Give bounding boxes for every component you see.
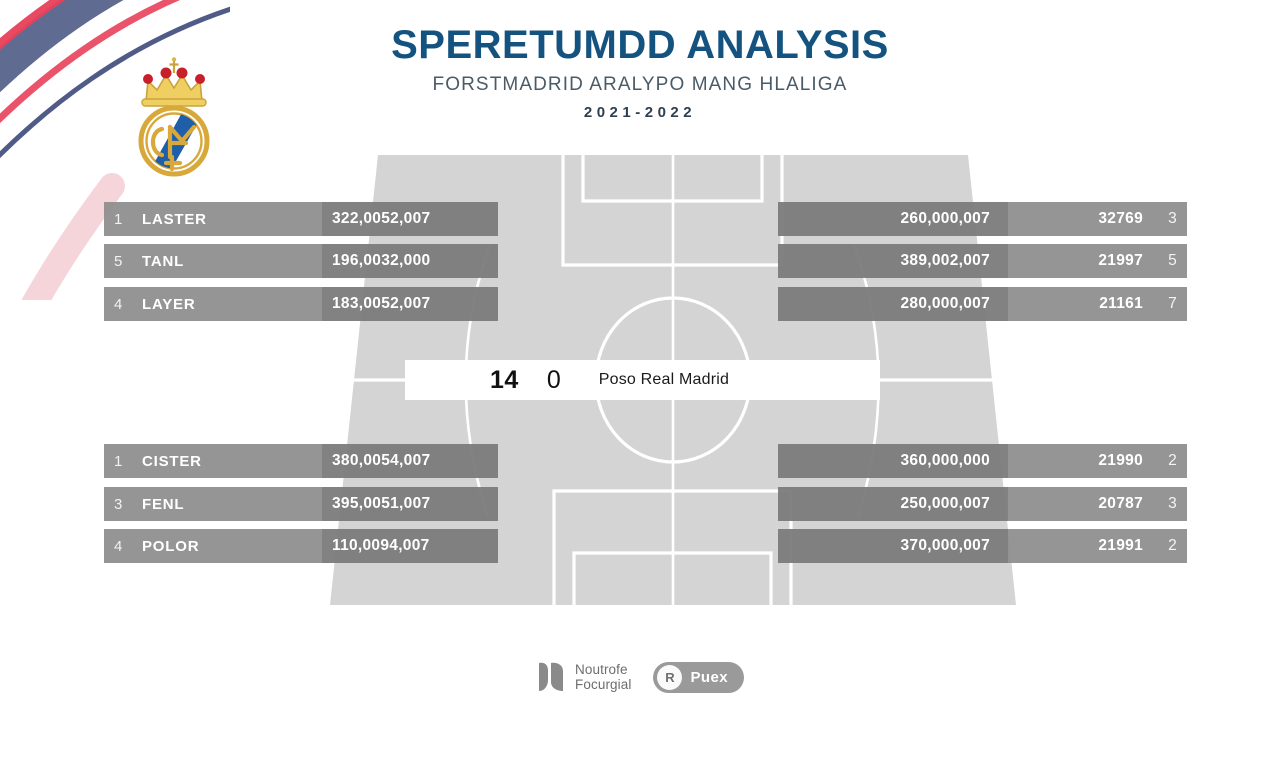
row-stat-segment: 21161 7 [1008,287,1187,321]
row-value-segment: 360,000,000 [778,444,1008,478]
score-team-name: Poso Real Madrid [599,371,729,389]
row-value-segment: 280,000,007 [778,287,1008,321]
row-name: FENL [142,496,184,513]
table-row[interactable]: 1 LASTER 322,0052,007 [104,202,498,236]
row-rank: 2 [1143,452,1177,470]
row-stat-segment: 21990 2 [1008,444,1187,478]
row-stat-segment: 21997 5 [1008,244,1187,278]
score-home: 14 [490,366,519,395]
table-row[interactable]: 1 CISTER 380,0054,007 [104,444,498,478]
row-rank: 1 [114,453,142,470]
row-name: LASTER [142,211,207,228]
infographic-canvas: SPERETUMDD ANALYSIS FORSTMADRID ARALYPO … [0,0,1280,768]
scoreboard: 14 0 Poso Real Madrid [405,360,880,400]
row-rank: 3 [1143,210,1177,228]
row-rank: 1 [114,211,142,228]
sponsor-badge-pill[interactable]: R Puex [653,662,743,693]
row-name: CISTER [142,453,202,470]
row-rank: 3 [1143,495,1177,513]
row-stat-segment: 32769 3 [1008,202,1187,236]
row-number: 21161 [1099,295,1143,313]
row-rank: 3 [114,496,142,513]
row-rank: 5 [114,253,142,270]
table-row[interactable]: 389,002,007 21997 5 [778,244,1187,278]
row-rank: 4 [114,296,142,313]
row-label-segment: 1 LASTER [104,202,322,236]
row-stat-segment: 21991 2 [1008,529,1187,563]
row-value-segment: 380,0054,007 [322,444,498,478]
row-value: 322,0052,007 [322,210,430,228]
header-block: SPERETUMDD ANALYSIS FORSTMADRID ARALYPO … [260,22,1020,121]
row-label-segment: 5 TANL [104,244,322,278]
row-value-segment: 110,0094,007 [322,529,498,563]
row-value: 110,0094,007 [322,537,430,555]
table-row[interactable]: 360,000,000 21990 2 [778,444,1187,478]
brand-line-2: Focurgial [575,677,631,692]
row-value-segment: 260,000,007 [778,202,1008,236]
row-label-segment: 3 FENL [104,487,322,521]
score-away: 0 [547,366,561,395]
row-value: 360,000,000 [901,452,991,470]
page-subtitle: FORSTMADRID ARALYPO MANG HLALIGA [260,74,1020,96]
row-number: 32769 [1098,210,1143,228]
row-rank: 4 [114,538,142,555]
table-row[interactable]: 3 FENL 395,0051,007 [104,487,498,521]
row-rank: 2 [1143,537,1177,555]
table-row[interactable]: 370,000,007 21991 2 [778,529,1187,563]
row-value: 389,002,007 [901,252,991,270]
row-label-segment: 4 POLOR [104,529,322,563]
row-label-segment: 4 LAYER [104,287,322,321]
row-rank: 5 [1143,252,1177,270]
row-name: TANL [142,253,184,270]
row-stat-segment: 20787 3 [1008,487,1187,521]
table-row[interactable]: 280,000,007 21161 7 [778,287,1187,321]
row-value: 380,0054,007 [322,452,430,470]
row-value: 196,0032,000 [322,252,430,270]
page-title: SPERETUMDD ANALYSIS [260,22,1020,68]
row-value-segment: 395,0051,007 [322,487,498,521]
table-row[interactable]: 4 POLOR 110,0094,007 [104,529,498,563]
row-value-segment: 196,0032,000 [322,244,498,278]
brand-line-1: Noutrofe [575,662,631,677]
table-row[interactable]: 5 TANL 196,0032,000 [104,244,498,278]
row-value-segment: 250,000,007 [778,487,1008,521]
table-row[interactable]: 250,000,007 20787 3 [778,487,1187,521]
table-row[interactable]: 260,000,007 32769 3 [778,202,1187,236]
row-name: POLOR [142,538,199,555]
brand-name: Noutrofe Focurgial [575,662,631,692]
brand-mark-icon [536,660,566,694]
row-value-segment: 183,0052,007 [322,287,498,321]
row-value-segment: 389,002,007 [778,244,1008,278]
footer-bar: Noutrofe Focurgial R Puex [0,660,1280,694]
real-madrid-crest-icon [126,57,222,182]
row-number: 21997 [1098,252,1143,270]
row-name: LAYER [142,296,195,313]
brand-logo: Noutrofe Focurgial [536,660,631,694]
row-value: 183,0052,007 [322,295,430,313]
row-value: 370,000,007 [901,537,991,555]
season-label: 2021-2022 [260,104,1020,121]
row-value: 260,000,007 [901,210,991,228]
row-value: 280,000,007 [901,295,991,313]
sponsor-initial: R [657,665,682,690]
sponsor-name: Puex [690,669,727,686]
row-number: 21991 [1098,537,1143,555]
row-value: 250,000,007 [901,495,991,513]
row-number: 20787 [1098,495,1143,513]
row-value-segment: 370,000,007 [778,529,1008,563]
row-number: 21990 [1098,452,1143,470]
table-row[interactable]: 4 LAYER 183,0052,007 [104,287,498,321]
row-value: 395,0051,007 [322,495,430,513]
row-value-segment: 322,0052,007 [322,202,498,236]
row-label-segment: 1 CISTER [104,444,322,478]
row-rank: 7 [1143,295,1177,313]
